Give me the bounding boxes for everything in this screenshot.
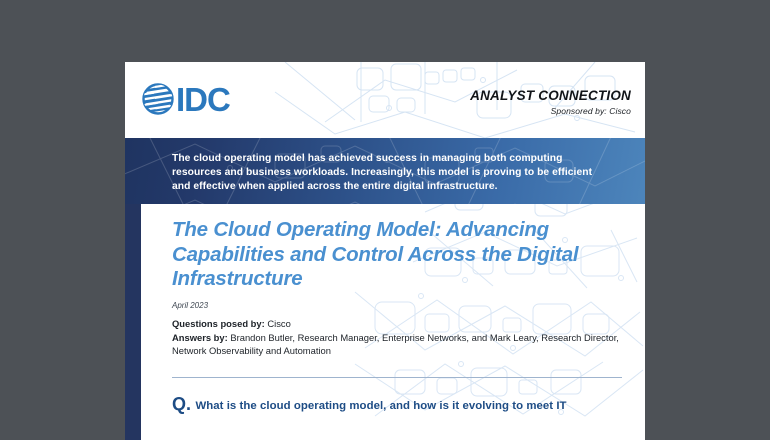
- idc-globe-icon: [141, 82, 175, 116]
- answers-by-value: Brandon Butler, Research Manager, Enterp…: [172, 332, 619, 356]
- left-navy-rail: [125, 204, 141, 440]
- questions-posed-by-value: Cisco: [267, 318, 290, 329]
- document-page: IDC ANALYST CONNECTION Sponsored by: Cis…: [125, 62, 645, 440]
- series-title: ANALYST CONNECTION: [470, 88, 631, 103]
- questions-posed-by-line: Questions posed by: Cisco: [172, 318, 622, 331]
- sponsor-line: Sponsored by: Cisco: [470, 106, 631, 116]
- document-header: IDC ANALYST CONNECTION Sponsored by: Cis…: [125, 62, 645, 138]
- questions-posed-by-label: Questions posed by:: [172, 318, 265, 329]
- idc-logo: IDC: [141, 82, 230, 116]
- analyst-connection-block: ANALYST CONNECTION Sponsored by: Cisco: [470, 88, 631, 116]
- idc-logo-text: IDC: [176, 83, 230, 116]
- answers-by-label: Answers by:: [172, 332, 228, 343]
- question-text: What is the cloud operating model, and h…: [195, 400, 566, 412]
- publication-date: April 2023: [172, 301, 622, 310]
- page-title: The Cloud Operating Model: Advancing Cap…: [172, 218, 622, 292]
- banner-summary-text: The cloud operating model has achieved s…: [172, 152, 612, 195]
- question-block: Q. What is the cloud operating model, an…: [172, 394, 622, 415]
- answers-by-line: Answers by: Brandon Butler, Research Man…: [172, 332, 622, 358]
- document-body-card: The Cloud Operating Model: Advancing Cap…: [141, 204, 645, 440]
- section-divider: [172, 377, 622, 378]
- question-marker: Q.: [172, 394, 191, 414]
